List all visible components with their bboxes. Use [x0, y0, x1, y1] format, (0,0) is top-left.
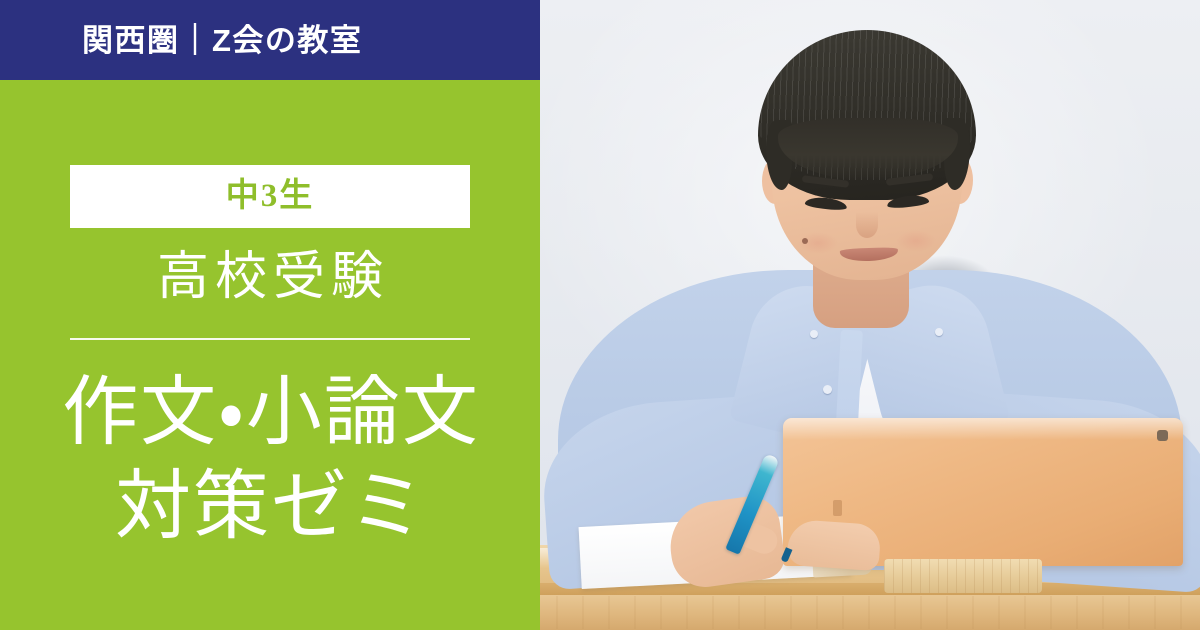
tablet-camera-icon [1157, 430, 1168, 441]
nose [856, 212, 878, 238]
face-mole [802, 238, 808, 244]
collar-button-right [935, 328, 943, 336]
boy-hand-right-resting [787, 519, 882, 571]
course-title-line-2: 対策ゼミ [0, 460, 540, 554]
title-divider [70, 338, 470, 340]
course-title-line-1: 作文・小論文 [0, 366, 540, 460]
left-green-panel: 関西圏｜Z会の教室 中3生 高校受験 作文・小論文 対策ゼミ [0, 0, 540, 630]
brand-bar: 関西圏｜Z会の教室 [0, 0, 540, 80]
collar-button-left [810, 330, 818, 338]
grade-badge-label: 中3生 [226, 180, 315, 213]
tablet-logo-mark [833, 500, 842, 516]
stand-wood-grain [884, 559, 1042, 593]
cheek-right [896, 230, 936, 252]
course-banner: 関西圏｜Z会の教室 中3生 高校受験 作文・小論文 対策ゼミ [0, 0, 1200, 630]
desk-wood-grain [540, 596, 1200, 629]
exam-label: 高校受験 [0, 248, 540, 308]
grade-badge: 中3生 [70, 165, 470, 228]
student-photo [540, 0, 1200, 630]
tablet-highlight [783, 418, 1183, 440]
shirt-button-upper [823, 385, 832, 394]
brand-title: 関西圏｜Z会の教室 [82, 25, 362, 56]
course-title: 作文・小論文 対策ゼミ [0, 366, 540, 554]
